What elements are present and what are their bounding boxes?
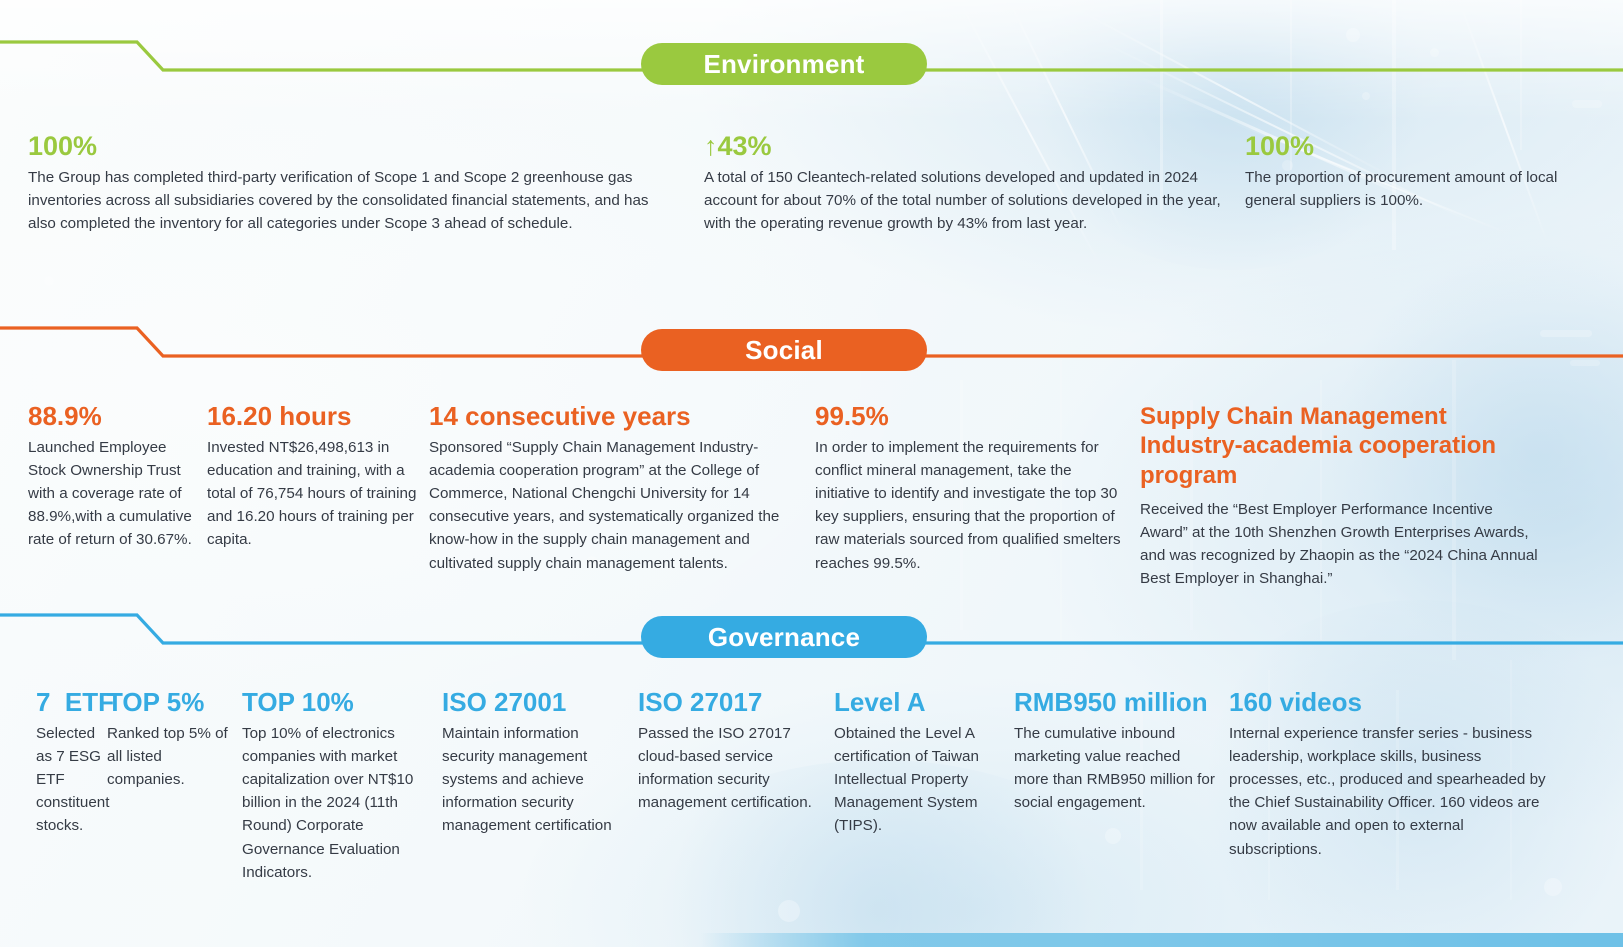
stat-description: In order to implement the requirements f…	[815, 436, 1126, 575]
section-title-environment: Environment	[703, 49, 864, 80]
section-title-social: Social	[745, 335, 823, 366]
stat-card: ISO 27017 Passed the ISO 27017 cloud-bas…	[638, 688, 834, 884]
stat-description: Received the “Best Employer Performance …	[1140, 498, 1543, 590]
social-stats-row: 88.9% Launched Employee Stock Ownership …	[0, 402, 1623, 590]
stat-description: Sponsored “Supply Chain Management Indus…	[429, 436, 803, 575]
section-header-environment: Environment	[641, 43, 927, 85]
stat-card: 14 consecutive years Sponsored “Supply C…	[429, 402, 815, 590]
stat-card: ↑43% A total of 150 Cleantech-related so…	[660, 131, 1245, 236]
stat-card: ISO 27001 Maintain information security …	[442, 688, 638, 884]
stat-description: Top 10% of electronics companies with ma…	[242, 722, 430, 884]
stat-card: TOP 5% Ranked top 5% of all listed compa…	[107, 688, 242, 884]
stat-description: The Group has completed third-party veri…	[28, 166, 652, 235]
stat-card: Supply Chain Management Industry-academi…	[1140, 402, 1623, 590]
stat-description: Maintain information security management…	[442, 722, 626, 837]
stat-card: Level A Obtained the Level A certificati…	[834, 688, 1014, 884]
stat-description: The cumulative inbound marketing value r…	[1014, 722, 1217, 814]
stat-card: 7 ETF Selected as 7 ESG ETF constituent …	[0, 688, 107, 884]
section-title-governance: Governance	[708, 622, 860, 653]
stat-description: Invested NT$26,498,613 in education and …	[207, 436, 419, 551]
stat-value: Supply Chain Management Industry-academi…	[1140, 402, 1543, 490]
stat-description: A total of 150 Cleantech-related solutio…	[704, 166, 1237, 235]
stat-description: Obtained the Level A certification of Ta…	[834, 722, 1002, 837]
stat-card: 100% The proportion of procurement amoun…	[1245, 131, 1623, 236]
stat-value: 100%	[1245, 131, 1563, 161]
stat-description: Selected as 7 ESG ETF constituent stocks…	[36, 722, 101, 837]
stat-value: RMB950 million	[1014, 688, 1217, 717]
stat-card: 100% The Group has completed third-party…	[0, 131, 660, 236]
stat-card: 16.20 hours Invested NT$26,498,613 in ed…	[207, 402, 429, 590]
stat-value: 100%	[28, 131, 652, 161]
stat-value: TOP 10%	[242, 688, 430, 717]
section-header-governance: Governance	[641, 616, 927, 658]
esg-highlights-infographic: Environment 100% The Group has completed…	[0, 0, 1623, 947]
stat-card: TOP 10% Top 10% of electronics companies…	[242, 688, 442, 884]
governance-stats-row: 7 ETF Selected as 7 ESG ETF constituent …	[0, 688, 1623, 884]
section-header-social: Social	[641, 329, 927, 371]
stat-card: 99.5% In order to implement the requirem…	[815, 402, 1140, 590]
stat-value: ISO 27017	[638, 688, 820, 717]
stat-value: 7 ETF	[36, 688, 101, 717]
stat-value: 14 consecutive years	[429, 402, 803, 431]
stat-card: 160 videos Internal experience transfer …	[1229, 688, 1623, 884]
stat-value: 88.9%	[28, 402, 197, 431]
stat-card: 88.9% Launched Employee Stock Ownership …	[0, 402, 207, 590]
stat-value: 99.5%	[815, 402, 1126, 431]
stat-description: Passed the ISO 27017 cloud-based service…	[638, 722, 820, 814]
stat-value: Level A	[834, 688, 1002, 717]
stat-description: Internal experience transfer series - bu…	[1229, 722, 1549, 861]
stat-description: Ranked top 5% of all listed companies.	[107, 722, 234, 791]
stat-value: TOP 5%	[107, 688, 234, 717]
environment-stats-row: 100% The Group has completed third-party…	[0, 131, 1623, 236]
stat-value: ISO 27001	[442, 688, 626, 717]
stat-card: RMB950 million The cumulative inbound ma…	[1014, 688, 1229, 884]
stat-value: 160 videos	[1229, 688, 1549, 717]
stat-value: 16.20 hours	[207, 402, 419, 431]
stat-value: ↑43%	[704, 131, 1237, 161]
stat-description: The proportion of procurement amount of …	[1245, 166, 1563, 212]
stat-description: Launched Employee Stock Ownership Trust …	[28, 436, 197, 551]
